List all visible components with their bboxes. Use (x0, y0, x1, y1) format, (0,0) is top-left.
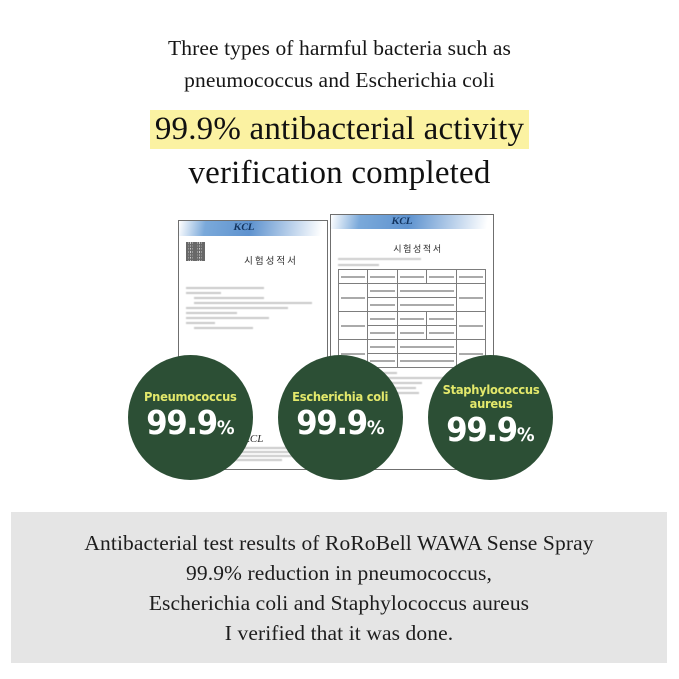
document-header-banner: KCL (179, 221, 327, 236)
badge-number: 99.9 (147, 403, 218, 442)
table-cell (427, 270, 456, 284)
badge-number: 99.9 (447, 410, 518, 449)
table-cell (456, 312, 485, 340)
document-body-left: 시험성적서 (179, 236, 327, 329)
test-results-table (338, 269, 486, 368)
badge-number: 99.9 (297, 403, 368, 442)
table-cell (427, 326, 456, 340)
table-row (339, 270, 486, 284)
result-badge-escherichia-coli: Escherichia coli 99.9% (278, 355, 403, 480)
document-form-lines-left (186, 287, 320, 329)
table-row (339, 312, 486, 326)
summary-line-4: I verified that it was done. (225, 618, 453, 648)
subheadline-line-1: Three types of harmful bacteria such as (0, 32, 679, 64)
table-cell (397, 270, 426, 284)
table-cell (368, 270, 397, 284)
document-text-line (186, 322, 215, 324)
table-cell (427, 312, 456, 326)
document-text-line (338, 264, 379, 266)
highlighted-claim: 99.9% antibacterial activity (150, 110, 529, 149)
kcl-logo: KCL (391, 216, 414, 227)
summary-line-2: 99.9% reduction in pneumococcus, (186, 558, 492, 588)
document-text-line (186, 292, 221, 294)
document-title-right: 시험성적서 (350, 242, 486, 255)
table-cell (368, 284, 397, 298)
summary-line-1: Antibacterial test results of RoRoBell W… (84, 528, 593, 558)
table-cell (456, 284, 485, 312)
badge-label: Escherichia coli (292, 390, 388, 404)
document-text-line (186, 307, 288, 309)
badge-label: Pneumococcus (144, 390, 237, 404)
document-text-line (194, 297, 264, 299)
page-title-line-1: 99.9% antibacterial activity (0, 107, 679, 151)
table-cell (456, 270, 485, 284)
document-text-line (338, 258, 421, 260)
table-cell (397, 326, 426, 340)
table-cell (397, 312, 426, 326)
subheadline: Three types of harmful bacteria such as … (0, 32, 679, 96)
table-row (339, 340, 486, 354)
summary-line-3: Escherichia coli and Staphylococcus aure… (149, 588, 529, 618)
summary-panel: Antibacterial test results of RoRoBell W… (11, 512, 667, 663)
qr-code-icon (186, 242, 205, 261)
kcl-logo: KCL (233, 222, 256, 233)
table-cell (368, 312, 397, 326)
table-cell (368, 326, 397, 340)
page-title-line-2: verification completed (0, 151, 679, 195)
table-cell (368, 340, 397, 354)
page-title: 99.9% antibacterial activity verificatio… (0, 107, 679, 195)
document-text-line (186, 312, 237, 314)
document-text-line (186, 287, 264, 289)
result-badge-staphylococcus-aureus: Staphylococcus aureus 99.9% (428, 355, 553, 480)
subheadline-line-2: pneumococcus and Escherichia coli (0, 64, 679, 96)
table-cell (397, 340, 456, 354)
document-header-banner: KCL (331, 215, 493, 229)
table-cell (397, 354, 456, 368)
badge-value: 99.9% (147, 406, 234, 445)
document-title-left: 시험성적서 (222, 253, 320, 267)
document-text-line (186, 317, 269, 319)
table-cell (339, 270, 368, 284)
badge-value: 99.9% (447, 413, 534, 452)
table-cell (397, 284, 456, 298)
document-text-line (194, 327, 253, 329)
table-cell (368, 298, 397, 312)
badge-unit: % (367, 417, 384, 439)
table-row (339, 284, 486, 298)
badge-unit: % (517, 424, 534, 446)
headline-block: Three types of harmful bacteria such as … (0, 0, 679, 195)
badge-unit: % (217, 417, 234, 439)
table-cell (339, 284, 368, 312)
badge-label: Staphylococcus aureus (439, 383, 542, 411)
table-cell (339, 312, 368, 340)
badge-value: 99.9% (297, 406, 384, 445)
document-text-line (194, 302, 312, 304)
result-badge-pneumococcus: Pneumococcus 99.9% (128, 355, 253, 480)
certificate-area: KCL 시험성적서 KCL (0, 212, 679, 487)
table-cell (397, 298, 456, 312)
